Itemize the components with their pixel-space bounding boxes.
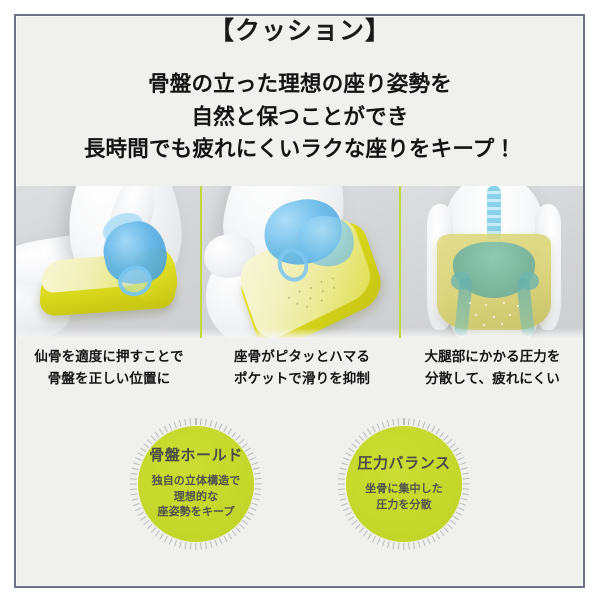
- caption-line: 分散して、疲れにくい: [402, 368, 583, 390]
- feature-image-ischium-pocket: [202, 186, 400, 338]
- caption-line: 骨盤を正しい位置に: [16, 368, 202, 390]
- subheadline: 骨盤の立った理想の座り姿勢を 自然と保つことができ 長時間でも疲れにくいラクな座…: [0, 68, 600, 166]
- badge-circle: 骨盤ホールド 独自の立体構造で 理想的な 座姿勢をキープ: [138, 426, 254, 542]
- badge-title: 圧力バランス: [357, 455, 450, 473]
- badge-body-line: 独自の立体構造で: [152, 474, 241, 490]
- badge-body-line: 圧力を分散: [365, 498, 443, 514]
- caption-line: ポケットで滑りを抑制: [202, 368, 402, 390]
- caption-line: 大腿部にかかる圧力を: [402, 346, 583, 368]
- caption-sacrum-support: 仙骨を適度に押すことで 骨盤を正しい位置に: [16, 346, 202, 390]
- badge-pressure-balance: 圧力バランス 坐骨に集中した 圧力を分散: [338, 418, 470, 550]
- feature-image-sacrum-support: [16, 186, 200, 338]
- badge-title: 骨盤ホールド: [149, 447, 243, 465]
- subheadline-line-1: 骨盤の立った理想の座り姿勢を: [0, 68, 600, 101]
- product-feature-page: 【クッション】 骨盤の立った理想の座り姿勢を 自然と保つことができ 長時間でも疲…: [0, 0, 600, 603]
- caption-ischium-pocket: 座骨がピタッとハマる ポケットで滑りを抑制: [202, 346, 402, 390]
- badge-row: 骨盤ホールド 独自の立体構造で 理想的な 座姿勢をキープ 圧力バランス 坐骨に集…: [0, 418, 600, 554]
- badge-body: 独自の立体構造で 理想的な 座姿勢をキープ: [152, 474, 241, 522]
- caption-line: 仙骨を適度に押すことで: [16, 346, 202, 368]
- caption-line: 座骨がピタッとハマる: [202, 346, 402, 368]
- cushion-vent-dots: [463, 300, 523, 326]
- subheadline-line-3: 長時間でも疲れにくいラクな座りをキープ！: [0, 133, 600, 166]
- subheadline-line-2: 自然と保つことができ: [0, 101, 600, 134]
- page-title: 【クッション】: [0, 16, 600, 46]
- badge-body: 坐骨に集中した 圧力を分散: [365, 482, 443, 514]
- headline-block: 【クッション】 骨盤の立った理想の座り姿勢を 自然と保つことができ 長時間でも疲…: [0, 16, 600, 166]
- caption-thigh-pressure: 大腿部にかかる圧力を 分散して、疲れにくい: [402, 346, 583, 390]
- feature-image-band: [16, 186, 583, 338]
- badge-body-line: 坐骨に集中した: [365, 482, 443, 498]
- badge-pelvis-hold: 骨盤ホールド 独自の立体構造で 理想的な 座姿勢をキープ: [130, 418, 262, 550]
- caption-row: 仙骨を適度に押すことで 骨盤を正しい位置に 座骨がピタッとハマる ポケットで滑り…: [16, 346, 583, 390]
- badge-body-line: 座姿勢をキープ: [152, 505, 241, 521]
- feature-image-thigh-pressure: [401, 186, 583, 338]
- badge-body-line: 理想的な: [152, 490, 241, 506]
- badge-circle: 圧力バランス 坐骨に集中した 圧力を分散: [346, 426, 462, 542]
